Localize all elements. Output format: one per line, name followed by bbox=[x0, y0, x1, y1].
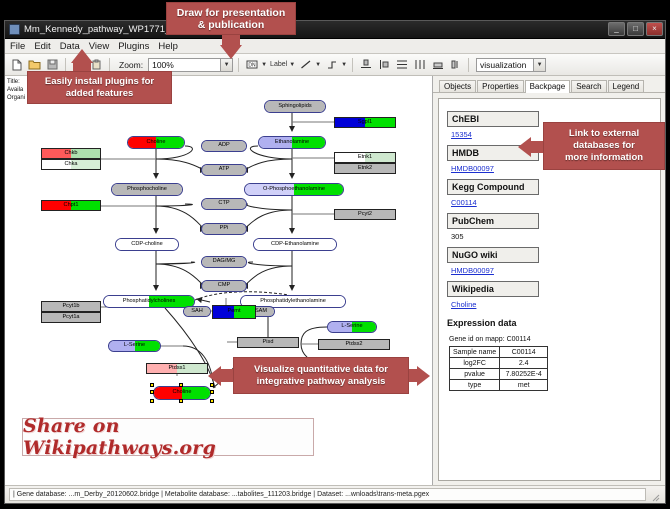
db-value-pubchem: 305 bbox=[451, 232, 660, 241]
node-label: Phosphatidylcholines bbox=[123, 299, 176, 305]
toolbar-divider-4 bbox=[352, 58, 353, 72]
gene-node-pcyt2[interactable]: Pcyt2 bbox=[334, 209, 396, 220]
datanode-icon[interactable]: DN bbox=[244, 57, 259, 72]
callout-link-line1: Link to external bbox=[569, 128, 639, 140]
expr-val-type: met bbox=[500, 380, 548, 391]
metabolite-node-l-serine-left[interactable]: L-Serine bbox=[108, 340, 161, 352]
gene-node-ptdss2[interactable]: Ptdss2 bbox=[318, 339, 390, 350]
toolbar-divider bbox=[65, 58, 66, 72]
menu-item-file[interactable]: File bbox=[10, 41, 25, 52]
table-row: type met bbox=[450, 380, 548, 391]
status-text: | Gene database: ...m_Derby_20120602.bri… bbox=[9, 488, 646, 501]
label-dropdown-icon[interactable]: ▼ bbox=[289, 62, 295, 68]
callout-share-text: Share on Wikipathways.org bbox=[23, 415, 313, 459]
db-link-wikipedia[interactable]: Choline bbox=[451, 300, 660, 309]
selection-handle[interactable] bbox=[150, 383, 154, 387]
node-label: Ethanolamine bbox=[275, 140, 309, 146]
metabolite-node-choline-top[interactable]: Choline bbox=[127, 136, 185, 149]
node-label: SAM bbox=[255, 309, 267, 315]
node-label: Chkb bbox=[64, 151, 77, 157]
callout-visualize-arrow-left-icon bbox=[208, 366, 221, 386]
callout-visualize-arrow-right-icon bbox=[417, 366, 430, 386]
visualization-value: visualization bbox=[480, 60, 526, 70]
table-row: pvalue 7.80252E-4 bbox=[450, 369, 548, 380]
selection-handle[interactable] bbox=[179, 383, 183, 387]
tab-search[interactable]: Search bbox=[571, 80, 606, 92]
callout-draw-line2: & publication bbox=[198, 19, 265, 31]
callout-visualize-line1: Visualize quantitative data for bbox=[254, 364, 388, 376]
menu-item-plugins[interactable]: Plugins bbox=[118, 41, 149, 52]
expression-data-header: Expression data bbox=[447, 318, 660, 328]
node-label: O-Phosphoethanolamine bbox=[263, 187, 325, 193]
db-header-kegg: Kegg Compound bbox=[447, 179, 539, 195]
group-icon[interactable] bbox=[430, 57, 445, 72]
node-label: SAH bbox=[191, 309, 203, 315]
gene-node-pcyt1a[interactable]: Pcyt1a bbox=[41, 312, 101, 323]
callout-visualize-line2: integrative pathway analysis bbox=[257, 376, 386, 388]
metabolite-node-dagmg[interactable]: DAG/MG bbox=[201, 256, 247, 268]
gene-node-sgpl1[interactable]: Sgpl1 bbox=[334, 117, 396, 128]
metabolite-node-cdp-choline[interactable]: CDP-choline bbox=[115, 238, 179, 251]
metabolite-node-cmp[interactable]: CMP bbox=[201, 280, 247, 292]
node-label: Pcyt2 bbox=[358, 212, 372, 218]
gene-node-pcyt1b[interactable]: Pcyt1b bbox=[41, 301, 101, 312]
callout-link: Link to external databases for more info… bbox=[543, 122, 665, 170]
connector-dropdown-icon[interactable]: ▼ bbox=[341, 62, 347, 68]
open-folder-icon[interactable] bbox=[27, 57, 42, 72]
new-file-icon[interactable] bbox=[9, 57, 24, 72]
callout-draw-line1: Draw for presentation bbox=[177, 7, 286, 19]
tab-properties[interactable]: Properties bbox=[477, 80, 523, 92]
metabolite-node-sah[interactable]: SAH bbox=[183, 306, 211, 317]
db-header-pubchem: PubChem bbox=[447, 213, 539, 229]
selection-handle[interactable] bbox=[150, 399, 154, 403]
menu-item-help[interactable]: Help bbox=[158, 41, 178, 52]
node-label: CDP-choline bbox=[131, 242, 162, 248]
maximize-button[interactable]: □ bbox=[627, 22, 644, 36]
node-label: Pcyt1a bbox=[62, 315, 79, 321]
close-button[interactable]: × bbox=[646, 22, 663, 36]
node-label: ADP bbox=[218, 143, 230, 149]
callout-plugins-line2: added features bbox=[66, 88, 134, 100]
zoom-value: 100% bbox=[152, 60, 174, 70]
selection-handle[interactable] bbox=[179, 399, 183, 403]
node-label: Ptdss2 bbox=[345, 342, 362, 348]
app-icon bbox=[9, 24, 20, 35]
node-label: Phosphocholine bbox=[127, 187, 167, 193]
gene-node-etnk2[interactable]: Etnk2 bbox=[334, 163, 396, 174]
screenshot-root: Mm_Kennedy_pathway_WP1771_45176.gpml _ □… bbox=[0, 0, 670, 509]
resize-grip-icon[interactable] bbox=[650, 489, 662, 501]
metabolite-node-o-phosphoethanolamine[interactable]: O-Phosphoethanolamine bbox=[244, 183, 344, 196]
gene-id-line: Gene id on mapp: C00114 bbox=[449, 336, 660, 343]
callout-plugins-line1: Easily install plugins for bbox=[45, 76, 154, 88]
db-header-chebi: ChEBI bbox=[447, 111, 539, 127]
callout-draw-arrow-icon bbox=[220, 45, 242, 59]
title-bar: Mm_Kennedy_pathway_WP1771_45176.gpml _ □… bbox=[5, 21, 665, 39]
menu-item-edit[interactable]: Edit bbox=[34, 41, 50, 52]
expr-val-log2fc: 2.4 bbox=[500, 358, 548, 369]
table-row: Sample name C00114 bbox=[450, 347, 548, 358]
callout-visualize: Visualize quantitative data for integrat… bbox=[233, 357, 409, 394]
db-link-nugo[interactable]: HMDB00097 bbox=[451, 266, 660, 275]
expr-key-type: type bbox=[450, 380, 500, 391]
selection-handle[interactable] bbox=[150, 390, 154, 394]
tab-legend[interactable]: Legend bbox=[608, 80, 645, 92]
gene-node-chpt1[interactable]: Chpt1 bbox=[41, 200, 101, 211]
tab-objects[interactable]: Objects bbox=[439, 80, 476, 92]
status-bar: | Gene database: ...m_Derby_20120602.bri… bbox=[5, 485, 665, 503]
save-icon[interactable] bbox=[45, 57, 60, 72]
label-tool-label[interactable]: Label bbox=[270, 61, 287, 68]
callout-plugins: Easily install plugins for added feature… bbox=[27, 71, 172, 104]
metabolite-node-l-serine-right[interactable]: L-Serine bbox=[327, 321, 377, 333]
callout-share: Share on Wikipathways.org bbox=[22, 418, 314, 456]
node-label: ATP bbox=[219, 167, 229, 173]
window-controls[interactable]: _ □ × bbox=[608, 22, 663, 36]
node-label: CMP bbox=[218, 283, 230, 289]
visualization-combobox[interactable]: visualization ▼ bbox=[476, 58, 546, 72]
callout-plugins-arrow-icon bbox=[71, 49, 93, 63]
zoom-label: Zoom: bbox=[119, 60, 143, 70]
metabolite-node-cdp-ethanolamine[interactable]: CDP-Ethanolamine bbox=[253, 238, 337, 251]
node-label: PPi bbox=[220, 226, 229, 232]
db-header-wikipedia: Wikipedia bbox=[447, 281, 539, 297]
toolbar-divider-5 bbox=[468, 58, 469, 72]
node-label: DAG/MG bbox=[213, 259, 236, 265]
toolbar-divider-2 bbox=[109, 58, 110, 72]
line-dropdown-icon[interactable]: ▼ bbox=[315, 62, 321, 68]
align-left-icon[interactable] bbox=[376, 57, 391, 72]
menu-bar[interactable]: File Edit Data View Plugins Help bbox=[5, 39, 665, 54]
node-label: Etnk2 bbox=[358, 166, 372, 172]
gene-node-chkb[interactable]: Chkb bbox=[41, 148, 101, 159]
expr-val-pvalue: 7.80252E-4 bbox=[500, 369, 548, 380]
node-label: Pisd bbox=[263, 340, 274, 346]
node-label: Pcyt1b bbox=[62, 304, 79, 310]
order-icon[interactable] bbox=[448, 57, 463, 72]
metabolite-node-adp[interactable]: ADP bbox=[201, 140, 247, 152]
gene-node-etnk1[interactable]: Etnk1 bbox=[334, 152, 396, 163]
gene-node-ptdss1[interactable]: Ptdss1 bbox=[146, 363, 208, 374]
connector-icon[interactable] bbox=[324, 57, 339, 72]
metabolite-node-ethanolamine-top[interactable]: Ethanolamine bbox=[258, 136, 326, 149]
node-label: Choline bbox=[173, 390, 192, 396]
minimize-button[interactable]: _ bbox=[608, 22, 625, 36]
metabolite-node-phosphocholine[interactable]: Phosphocholine bbox=[111, 183, 183, 196]
node-label: Phosphatidylethanolamine bbox=[260, 299, 326, 305]
zoom-combobox[interactable]: 100% ▼ bbox=[148, 58, 233, 72]
node-label: Ptdss1 bbox=[168, 366, 185, 372]
gene-node-pemt[interactable]: Pemt bbox=[212, 305, 256, 319]
node-label: CTP bbox=[218, 201, 229, 207]
callout-link-line2: databases for bbox=[573, 140, 635, 152]
node-label: L-Serine bbox=[124, 343, 145, 349]
db-header-nugo: NuGO wiki bbox=[447, 247, 539, 263]
distribute-icon[interactable] bbox=[412, 57, 427, 72]
gene-node-pisd[interactable]: Pisd bbox=[237, 337, 299, 348]
align-bottom-icon[interactable] bbox=[358, 57, 373, 72]
node-label: Sphingolipids bbox=[278, 104, 311, 110]
selection-handle[interactable] bbox=[210, 399, 214, 403]
datanode-dropdown-icon[interactable]: ▼ bbox=[261, 62, 267, 68]
callout-link-arrow-icon bbox=[518, 137, 531, 157]
callout-draw: Draw for presentation & publication bbox=[166, 2, 296, 35]
chevron-down-icon-2[interactable]: ▼ bbox=[533, 59, 545, 71]
metabolite-node-phosphatidylcholine[interactable]: Phosphatidylcholines bbox=[103, 295, 195, 308]
chevron-down-icon[interactable]: ▼ bbox=[220, 59, 232, 71]
callout-link-line3: more information bbox=[565, 152, 643, 164]
expr-key-pvalue: pvalue bbox=[450, 369, 500, 380]
side-panel-tabs[interactable]: Objects Properties Backpage Search Legen… bbox=[433, 79, 665, 93]
node-label: CDP-Ethanolamine bbox=[271, 242, 319, 248]
db-link-kegg[interactable]: C00114 bbox=[451, 198, 660, 207]
stack-icon[interactable] bbox=[394, 57, 409, 72]
expr-key-log2fc: log2FC bbox=[450, 358, 500, 369]
node-label: L-Serine bbox=[341, 324, 362, 330]
tab-backpage[interactable]: Backpage bbox=[525, 80, 571, 93]
expr-key-sample: Sample name bbox=[450, 347, 500, 358]
metabolite-node-choline-selected[interactable]: Choline bbox=[153, 386, 211, 400]
node-label: Chpt1 bbox=[64, 203, 79, 209]
node-label: Pemt bbox=[227, 309, 240, 315]
expression-table: Sample name C00114 log2FC 2.4 pvalue 7.8… bbox=[449, 346, 548, 391]
metabolite-node-ppi[interactable]: PPi bbox=[201, 223, 247, 235]
line-icon[interactable] bbox=[298, 57, 313, 72]
node-label: Etnk1 bbox=[358, 155, 372, 161]
toolbar-divider-3 bbox=[238, 58, 239, 72]
metabolite-node-sphingolipids[interactable]: Sphingolipids bbox=[264, 100, 326, 113]
gene-node-chka[interactable]: Chka bbox=[41, 159, 101, 170]
selection-handle[interactable] bbox=[210, 390, 214, 394]
metabolite-node-atp[interactable]: ATP bbox=[201, 164, 247, 176]
node-label: Sgpl1 bbox=[358, 120, 372, 126]
node-label: Chka bbox=[64, 162, 77, 168]
node-label: Choline bbox=[147, 140, 166, 146]
callout-link-stem bbox=[530, 141, 544, 153]
expr-val-sample: C00114 bbox=[500, 347, 548, 358]
table-row: log2FC 2.4 bbox=[450, 358, 548, 369]
svg-text:DN: DN bbox=[248, 63, 256, 69]
metabolite-node-ctp[interactable]: CTP bbox=[201, 198, 247, 210]
